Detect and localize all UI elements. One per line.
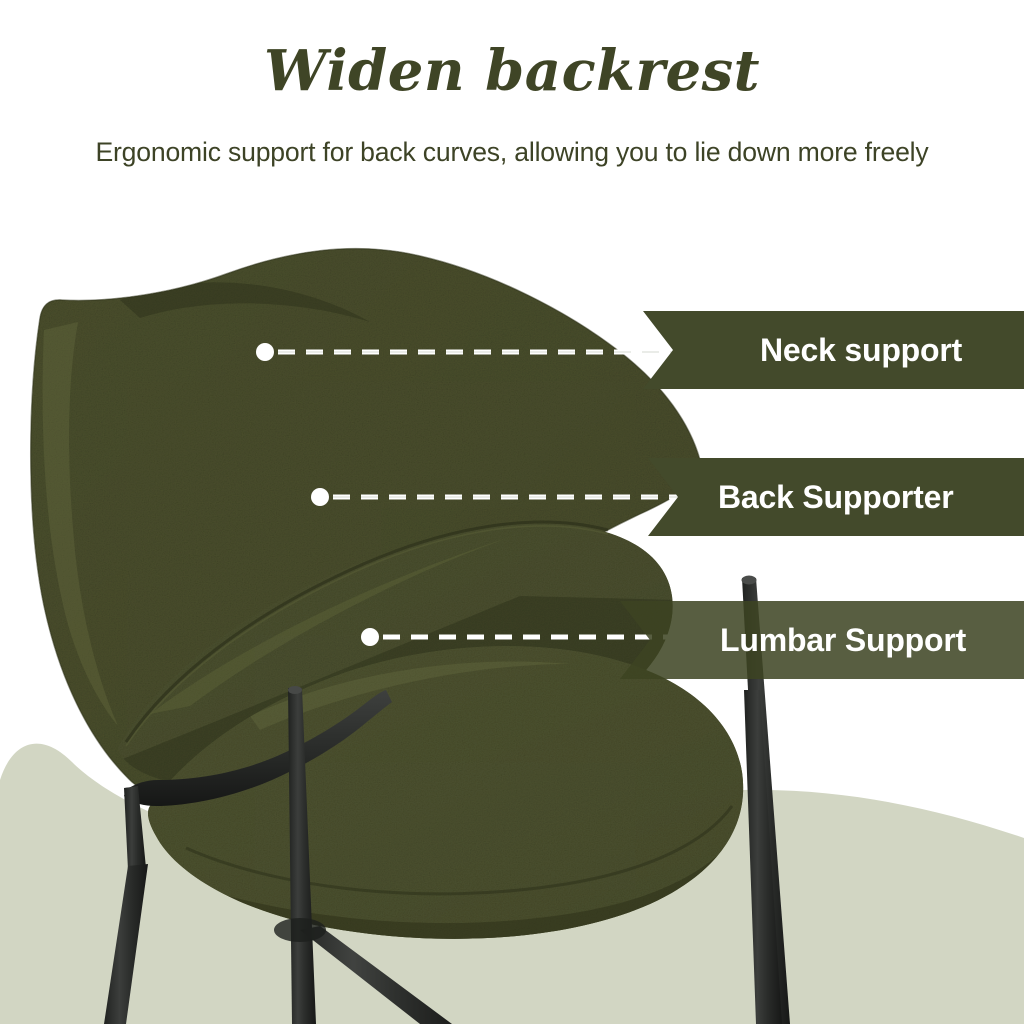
banner-label-neck-support: Neck support (760, 332, 962, 369)
callout-banner-neck-support[interactable]: Neck support (643, 311, 1024, 389)
callout-line-back (311, 488, 679, 506)
infographic-canvas: Neck support Back Supporter Lumbar Suppo… (0, 0, 1024, 1024)
callout-banner-back-supporter[interactable]: Back Supporter (648, 458, 1024, 536)
callout-banner-lumbar-support[interactable]: Lumbar Support (620, 601, 1024, 679)
callout-line-neck (256, 343, 672, 361)
banner-label-back-supporter: Back Supporter (718, 479, 953, 516)
banner-label-lumbar-support: Lumbar Support (720, 622, 966, 659)
